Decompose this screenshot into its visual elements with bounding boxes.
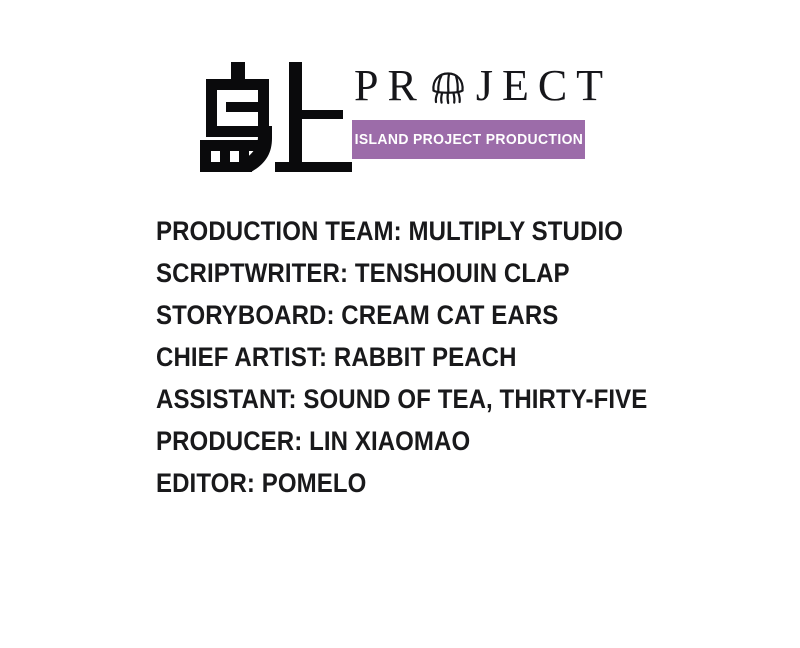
credit-line: SCRIPTWRITER: TENSHOUIN CLAP xyxy=(156,252,690,294)
credits-list: PRODUCTION TEAM: MULTIPLY STUDIO SCRIPTW… xyxy=(156,210,756,504)
credit-line: EDITOR: POMELO xyxy=(156,462,690,504)
credit-line: PRODUCER: LIN XIAOMAO xyxy=(156,420,690,462)
credit-line: ASSISTANT: SOUND OF TEA, THIRTY-FIVE xyxy=(156,378,690,420)
studio-banner: ISLAND PROJECT PRODUCTION xyxy=(352,120,585,159)
jellyfish-icon xyxy=(428,68,468,108)
studio-logo: PR xyxy=(200,52,604,172)
credit-line: PRODUCTION TEAM: MULTIPLY STUDIO xyxy=(156,210,690,252)
cjk-logotype-dao-shang xyxy=(200,52,352,172)
credits-page: PR xyxy=(0,0,800,648)
credit-line: STORYBOARD: CREAM CAT EARS xyxy=(156,294,690,336)
wordmark-letters-before-icon: PR xyxy=(354,64,426,108)
project-wordmark: PR xyxy=(352,58,612,114)
logo-wordmark-group: PR xyxy=(352,52,612,159)
wordmark-letters-after-icon: JECT xyxy=(476,64,612,108)
credit-line: CHIEF ARTIST: RABBIT PEACH xyxy=(156,336,690,378)
studio-banner-label: ISLAND PROJECT PRODUCTION xyxy=(354,132,583,147)
